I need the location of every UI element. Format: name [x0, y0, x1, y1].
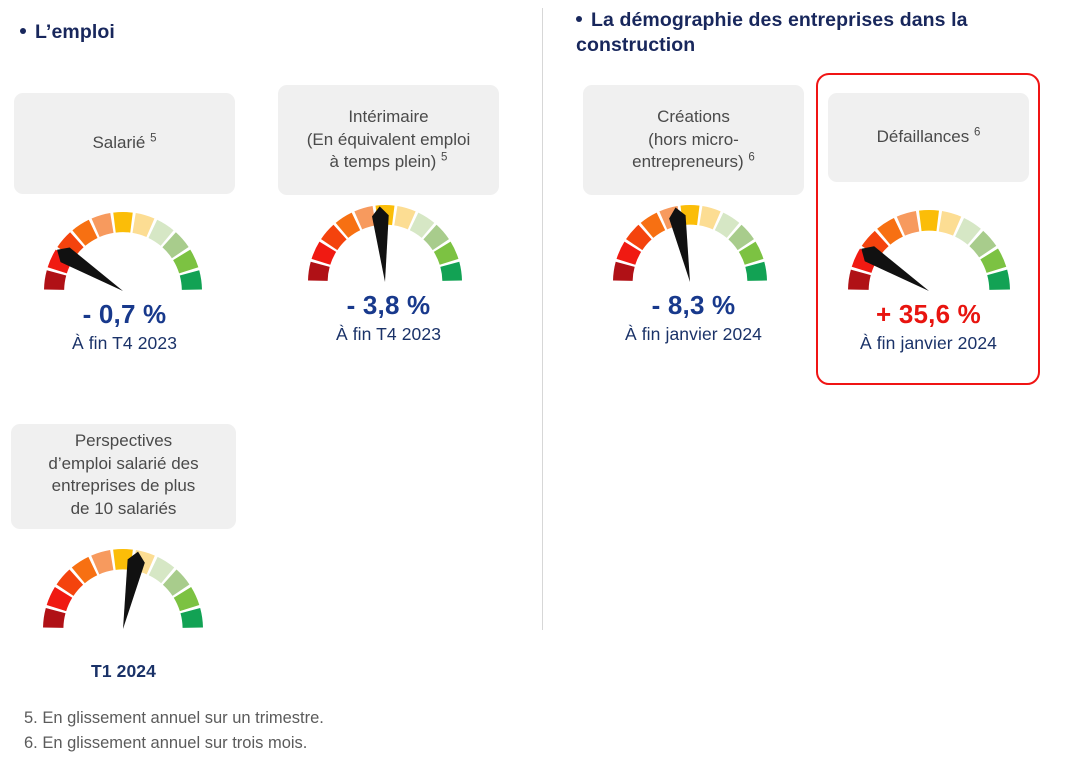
gauge-needle [372, 206, 389, 282]
metric-period-perspectives: T1 2024 [11, 661, 236, 682]
metric-card-interimaire: Intérimaire (En équivalent emploi à temp… [278, 85, 499, 195]
section-title-demography-text: La démographie des entreprises dans la c… [576, 9, 968, 56]
metric-perspectives: Perspectives d’emploi salarié des entrep… [11, 424, 236, 682]
footnote-ref: 6 [748, 152, 754, 164]
gauge-creations [613, 203, 804, 288]
metric-value-salarie: - 0,7 % [14, 299, 235, 330]
metric-creations: Créations (hors micro- entrepreneurs) 6 … [583, 85, 804, 345]
section-title-employment-text: L’emploi [35, 21, 115, 43]
footnote-ref: 5 [150, 133, 156, 145]
gauge-segment [43, 608, 65, 628]
metric-salarie: Salarié 5 - 0,7 % À fin T4 2023 [14, 93, 235, 354]
gauge-segment [613, 262, 635, 281]
metric-card-interimaire-text: Intérimaire (En équivalent emploi à temp… [307, 106, 470, 174]
section-title-demography: La démographie des entreprises dans la c… [576, 8, 1006, 58]
gauge-svg [848, 208, 1010, 297]
gauge-svg [44, 210, 202, 297]
gauge-svg [43, 547, 203, 635]
section-title-employment: L’emploi [20, 20, 440, 45]
footnote-5: 5. En glissement annuel sur un trimestre… [24, 706, 324, 731]
metric-interimaire: Intérimaire (En équivalent emploi à temp… [278, 85, 499, 345]
metric-card-creations: Créations (hors micro- entrepreneurs) 6 [583, 85, 804, 195]
bullet-icon [576, 16, 582, 22]
metric-period-defaillances: À fin janvier 2024 [828, 333, 1029, 354]
metric-card-salarie-text: Salarié 5 [92, 132, 156, 155]
gauge-interimaire [308, 203, 499, 288]
gauge-segment [919, 210, 939, 231]
gauge-segment [180, 270, 202, 290]
gauge-segment [440, 262, 462, 281]
metric-value-creations: - 8,3 % [583, 290, 804, 321]
gauge-segment [113, 212, 132, 233]
metric-card-salarie: Salarié 5 [14, 93, 235, 194]
footnote-ref: 6 [974, 127, 980, 139]
metric-card-creations-text: Créations (hors micro- entrepreneurs) 6 [632, 106, 755, 174]
metric-value-defaillances: + 35,6 % [828, 299, 1029, 330]
metric-defaillances: Défaillances 6 + 35,6 % À fin janvier 20… [828, 93, 1029, 354]
gauge-defaillances [848, 208, 1029, 297]
footnote-ref: 5 [441, 152, 447, 164]
metric-period-interimaire: À fin T4 2023 [278, 324, 499, 345]
gauge-segment [848, 270, 871, 290]
footnotes: 5. En glissement annuel sur un trimestre… [24, 706, 324, 756]
gauge-svg [308, 203, 462, 288]
gauge-svg [613, 203, 767, 288]
metric-card-defaillances: Défaillances 6 [828, 93, 1029, 182]
footnote-6: 6. En glissement annuel sur trois mois. [24, 731, 324, 756]
panel-employment: L’emploi Salarié 5 - 0,7 % À fin T4 2023… [0, 0, 542, 777]
gauge-segment [180, 608, 202, 628]
metric-card-perspectives: Perspectives d’emploi salarié des entrep… [11, 424, 236, 529]
bullet-icon [20, 28, 26, 34]
metric-value-interimaire: - 3,8 % [278, 290, 499, 321]
gauge-salarie [44, 210, 235, 297]
metric-period-salarie: À fin T4 2023 [14, 333, 235, 354]
gauge-segment [44, 270, 66, 290]
gauge-segment [308, 262, 330, 281]
gauge-segment [987, 270, 1010, 290]
metric-period-creations: À fin janvier 2024 [583, 324, 804, 345]
metric-card-defaillances-text: Défaillances 6 [877, 126, 981, 149]
metric-card-perspectives-text: Perspectives d’emploi salarié des entrep… [48, 430, 198, 520]
gauge-segment [745, 262, 767, 281]
gauge-perspectives [43, 547, 236, 635]
